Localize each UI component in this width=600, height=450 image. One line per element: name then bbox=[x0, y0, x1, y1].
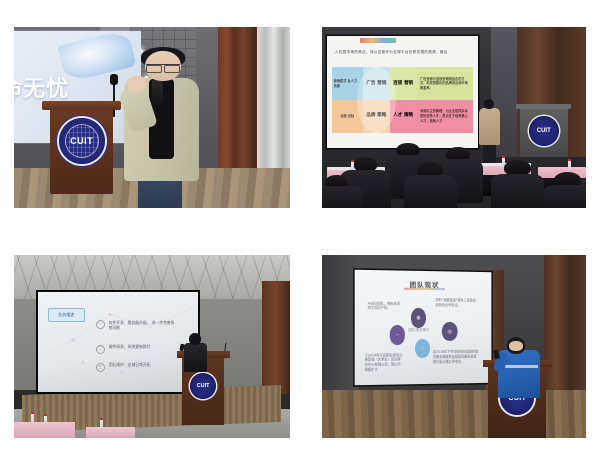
bullet-number: 二 bbox=[96, 345, 105, 354]
wooden-wall bbox=[262, 281, 290, 394]
scene-speaker-with-microphone: 命无忧 CUIT bbox=[14, 27, 290, 208]
slide-note-top-left: 与创业团队，拥有多项自主知识产权。 bbox=[368, 302, 402, 312]
lightbulb-icon: ◍ bbox=[411, 309, 426, 328]
podium: CUIT bbox=[50, 107, 113, 194]
slide-note-bottom-right: 自2016年下半年即将在智能终端设备安装服务及配套设备研发管理方面占据主导地位。 bbox=[433, 350, 479, 365]
floor bbox=[322, 390, 586, 438]
quadrant-chain-marketing: 连锁 营销 bbox=[390, 67, 417, 100]
bullet-number: 三 bbox=[96, 363, 105, 372]
cuit-emblem-label: CUIT bbox=[70, 136, 93, 146]
photo-bottom-right[interactable]: 团队现状 与创业团队，拥有多项自主知识产权。 同时"成都智造"拥有三家投资机构的… bbox=[322, 255, 586, 438]
slide-headline: 命无忧 bbox=[14, 71, 69, 103]
projection-screen: 业务描述 一 软件开发、服务器升级， 进一步完善系统功能 二 硬件研发、系统更新… bbox=[38, 292, 198, 393]
quadrant-label: 广告 营销 bbox=[366, 81, 386, 87]
bullet-number: 一 bbox=[96, 320, 105, 329]
wall-panel-left bbox=[322, 255, 359, 394]
projection-screen: 团队现状 与创业团队，拥有多项自主知识产权。 同时"成都智造"拥有三家投资机构的… bbox=[355, 270, 492, 386]
quadrant-label: 人才 策略 bbox=[393, 113, 413, 119]
water-bottle bbox=[31, 412, 34, 423]
scene-team-status-presentation: 团队现状 与创业团队，拥有多项自主知识产权。 同时"成都智造"拥有三家投资机构的… bbox=[322, 255, 586, 438]
photo-bottom-left[interactable]: 业务描述 一 软件开发、服务器升级， 进一步完善系统功能 二 硬件研发、系统更新… bbox=[14, 255, 290, 438]
slide-title-underline bbox=[404, 288, 445, 290]
slide-quadrant-matrix: 营销模式 及人力 资源 广告 营销 连锁 营销 广告营销与连锁营销相结合的方式，… bbox=[332, 67, 473, 132]
slide-color-bar bbox=[360, 38, 396, 42]
microphone-icon bbox=[152, 79, 163, 104]
slide-section-title: 业务描述 bbox=[58, 312, 74, 318]
quadrant-ad-marketing: 广告 营销 bbox=[363, 67, 390, 100]
search-icon: ◌ bbox=[415, 340, 430, 359]
slide-center-label: 团队现状简介 bbox=[404, 328, 434, 333]
photo-collage-page: 命无忧 CUIT bbox=[0, 0, 600, 450]
audience-body bbox=[491, 174, 544, 208]
water-bottle bbox=[44, 414, 47, 425]
quadrant-talent-strategy: 人才 策略 bbox=[390, 100, 417, 133]
bullet-text: 团队维护、店铺日常开拓 bbox=[109, 362, 151, 368]
audience-body bbox=[544, 185, 586, 208]
audience-body bbox=[322, 186, 362, 208]
bullet-text: 硬件研发、系统更新换代 bbox=[109, 344, 151, 350]
slide-bullet-item: 三 团队维护、店铺日常开拓 bbox=[96, 362, 176, 372]
presenter-head bbox=[484, 99, 494, 109]
scene-audience-and-marketing-slide: 入校园市场的焦点，而以这营作为支撑平台还原发展的视频，最后 营销模式 及人力 资… bbox=[322, 27, 586, 208]
projection-screen: 入校园市场的焦点，而以这营作为支撑平台还原发展的视频，最后 营销模式 及人力 资… bbox=[327, 36, 477, 148]
bullet-text: 软件开发、服务器升级， 进一步完善系统功能 bbox=[109, 320, 176, 331]
glasses-icon bbox=[146, 64, 179, 71]
microphone-stand bbox=[113, 81, 115, 117]
presenter-head bbox=[189, 333, 201, 345]
quadrant-note-text: 采用民主的管理，为企业招揽高素质的优秀人才，重点在于培养核心人才，造就人才 bbox=[417, 109, 474, 123]
quadrant-note-right-top: 广告营销与连锁营销相结合的方式，形成规模化的品牌效应和市场覆盖率。 bbox=[417, 67, 474, 100]
presenter-face bbox=[509, 341, 522, 351]
presenter-body bbox=[184, 343, 207, 372]
quadrant-note-text: 广告营销与连锁营销相结合的方式，形成规模化的品牌效应和市场覆盖率。 bbox=[417, 77, 474, 91]
slide-section-ribbon: 业务描述 bbox=[48, 308, 85, 322]
audience-area bbox=[322, 136, 586, 208]
quadrant-note-left-bottom: 运营·目标 bbox=[332, 100, 363, 133]
slide-note-top-right: 同时"成都智造"拥有三家投资机构的合作协议。 bbox=[436, 299, 476, 309]
quadrant-label: 品牌 策略 bbox=[366, 113, 386, 119]
slide-body-text: 入校园市场的焦点，而以这营作为支撑平台还原发展的视频，最后 bbox=[335, 50, 470, 55]
quadrant-note-left-top: 营销模式 及人力 资源 bbox=[332, 67, 363, 100]
cuit-emblem-icon: CUIT bbox=[190, 373, 216, 399]
slide-note-bottom-left: 于2014年于高新区成功注册营销（大学生）创业孵化中心有限公司，现公司规模扩大 bbox=[365, 353, 403, 373]
photo-top-right[interactable]: 入校园市场的焦点，而以这营作为支撑平台还原发展的视频，最后 营销模式 及人力 资… bbox=[322, 27, 586, 208]
cuit-emblem-label: CUIT bbox=[197, 383, 210, 389]
slide-bullet-item: 一 软件开发、服务器升级， 进一步完善系统功能 bbox=[96, 320, 176, 331]
slide-decorative-lines bbox=[38, 292, 198, 388]
podium-top bbox=[516, 104, 571, 109]
camera-icon: ◎ bbox=[443, 323, 458, 342]
podium-top bbox=[42, 101, 121, 111]
projection-screen-frame: 业务描述 一 软件开发、服务器升级， 进一步完善系统功能 二 硬件研发、系统更新… bbox=[36, 290, 200, 395]
water-bottle bbox=[568, 159, 571, 170]
cuit-emblem-icon: CUIT bbox=[59, 118, 105, 164]
cuit-emblem-label: CUIT bbox=[537, 128, 551, 134]
quadrant-label: 连锁 营销 bbox=[393, 81, 413, 87]
water-bottle bbox=[100, 418, 103, 429]
quadrant-note-text: 营销模式 及人力 资源 bbox=[332, 79, 363, 89]
scene-auditorium-wide-shot: 业务描述 一 软件开发、服务器升级， 进一步完善系统功能 二 硬件研发、系统更新… bbox=[14, 255, 290, 438]
quadrant-note-text: 运营·目标 bbox=[339, 114, 356, 119]
front-table bbox=[86, 427, 136, 438]
quadrant-note-right-bottom: 采用民主的管理，为企业招揽高素质的优秀人才，重点在于培养核心人才，造就人才 bbox=[417, 100, 474, 133]
photo-top-left[interactable]: 命无忧 CUIT bbox=[14, 27, 290, 208]
slide-bullet-item: 二 硬件研发、系统更新换代 bbox=[96, 344, 176, 354]
wooden-wall bbox=[544, 255, 586, 398]
audience-body bbox=[404, 175, 457, 208]
quadrant-brand-strategy: 品牌 策略 bbox=[363, 100, 390, 133]
